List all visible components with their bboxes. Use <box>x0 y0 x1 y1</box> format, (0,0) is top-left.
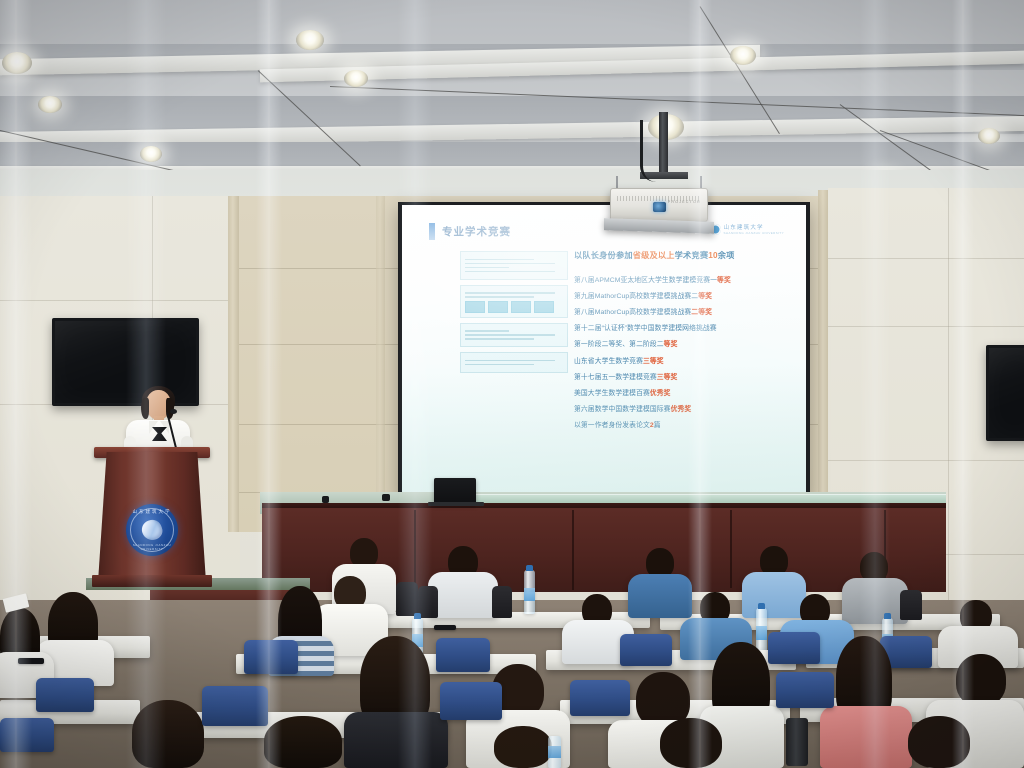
chair[interactable] <box>776 672 834 708</box>
slide-footer-line: 以第一作者身份发表论文2篇 <box>574 422 806 430</box>
certificate-card <box>460 285 568 318</box>
slide-canvas: 专业学术竞赛 山东建筑大学 SHANDONG JIANZHU UNIVERSIT… <box>402 205 806 497</box>
list-item: 第八届APMCM亚太地区大学生数学建模竞赛一等奖 <box>574 277 806 285</box>
projector-lens <box>653 202 666 212</box>
university-logo-subtext: SHANDONG JIANZHU UNIVERSITY <box>724 231 784 235</box>
projector-mount-pole <box>659 112 668 176</box>
ceiling-downlight <box>38 96 62 113</box>
ceiling-downlight <box>140 146 162 162</box>
certificate-thumbnails <box>460 251 568 378</box>
slide-headline: 以队长身份参加省级及以上学术竞赛10余项 <box>574 251 802 260</box>
headline-part: 余项 <box>718 251 735 260</box>
water-bottle <box>524 570 535 614</box>
university-emblem: 山东建筑大学 SHANDONG JIANZHU UNIVERSITY <box>126 504 178 556</box>
chair[interactable] <box>0 718 54 752</box>
ceiling-downlight <box>344 70 368 87</box>
ceiling-downlight <box>296 30 324 50</box>
certificate-card <box>460 251 568 280</box>
podium-base <box>92 575 212 587</box>
lecture-hall-photo: 专业学术竞赛 山东建筑大学 SHANDONG JIANZHU UNIVERSIT… <box>0 0 1024 768</box>
chair[interactable] <box>244 640 298 674</box>
headline-highlight: 省级及以上 <box>633 251 675 260</box>
certificate-card <box>460 352 568 373</box>
list-item: 美国大学生数学建模百赛优秀奖 <box>574 390 806 398</box>
slide-header-title: 专业学术竞赛 <box>442 224 511 239</box>
list-item: 第六届数学中国数学建模国际赛优秀奖 <box>574 406 806 414</box>
achievement-list: 第八届APMCM亚太地区大学生数学建模竞赛一等奖 第九届MathorCup高校数… <box>574 277 806 438</box>
chair[interactable] <box>440 682 502 720</box>
water-bottle <box>548 736 561 768</box>
emblem-top-text: 山东建筑大学 <box>126 509 178 515</box>
chair[interactable] <box>620 634 672 666</box>
emblem-bottom-text: SHANDONG JIANZHU UNIVERSITY <box>126 543 178 551</box>
laptop-base <box>428 502 484 506</box>
tumbler <box>786 718 808 766</box>
chair[interactable] <box>570 680 630 716</box>
headline-part: 以队长身份参加 <box>574 251 633 260</box>
chair[interactable] <box>436 638 490 672</box>
desk-microphone <box>382 494 390 501</box>
list-item: 第十二届“认证杯”数学中国数学建模网络挑战赛 <box>574 325 806 333</box>
list-item: 第八届MathorCup高校数学建模挑战赛二等奖 <box>574 309 806 317</box>
university-logo: 山东建筑大学 SHANDONG JIANZHU UNIVERSITY <box>710 223 784 235</box>
list-item: 第九届MathorCup高校数学建模挑战赛二等奖 <box>574 293 806 301</box>
list-item: 山东省大学生数学竞赛三等奖 <box>574 358 806 366</box>
chair[interactable] <box>768 632 820 664</box>
university-logo-text: 山东建筑大学 <box>724 223 784 231</box>
certificate-card <box>460 323 568 348</box>
headline-part: 学术竞赛 <box>675 251 709 260</box>
presenter-laptop <box>434 478 476 504</box>
wall-display-right[interactable] <box>986 345 1024 441</box>
screen-reflection <box>989 348 1024 438</box>
slide-header-accent-bar <box>429 223 435 240</box>
ceiling-downlight <box>978 128 1000 144</box>
screen-reflection <box>55 321 196 403</box>
desk-microphone <box>322 496 329 503</box>
mobile-phone <box>18 658 44 664</box>
list-item: 第十七届五一数学建模竞赛三等奖 <box>574 374 806 382</box>
ceiling-downlight <box>2 52 32 74</box>
projector-brand-label: PROJECTOR <box>668 200 701 204</box>
chair[interactable] <box>36 678 94 712</box>
list-item: 第一阶段二等奖、第二阶段二等奖 <box>574 341 806 349</box>
projector-cable <box>640 120 660 182</box>
ceiling-downlight <box>730 46 756 65</box>
headline-count: 10 <box>708 251 718 260</box>
microphone-head <box>170 409 177 414</box>
water-bottle <box>756 608 767 652</box>
projection-screen: 专业学术竞赛 山东建筑大学 SHANDONG JIANZHU UNIVERSIT… <box>398 202 810 500</box>
speaker-hair-side <box>141 398 149 419</box>
chair[interactable] <box>202 686 268 726</box>
mobile-phone <box>434 625 456 630</box>
wall-display-left[interactable] <box>52 318 199 406</box>
ceiling-projector: PROJECTOR <box>610 188 708 222</box>
